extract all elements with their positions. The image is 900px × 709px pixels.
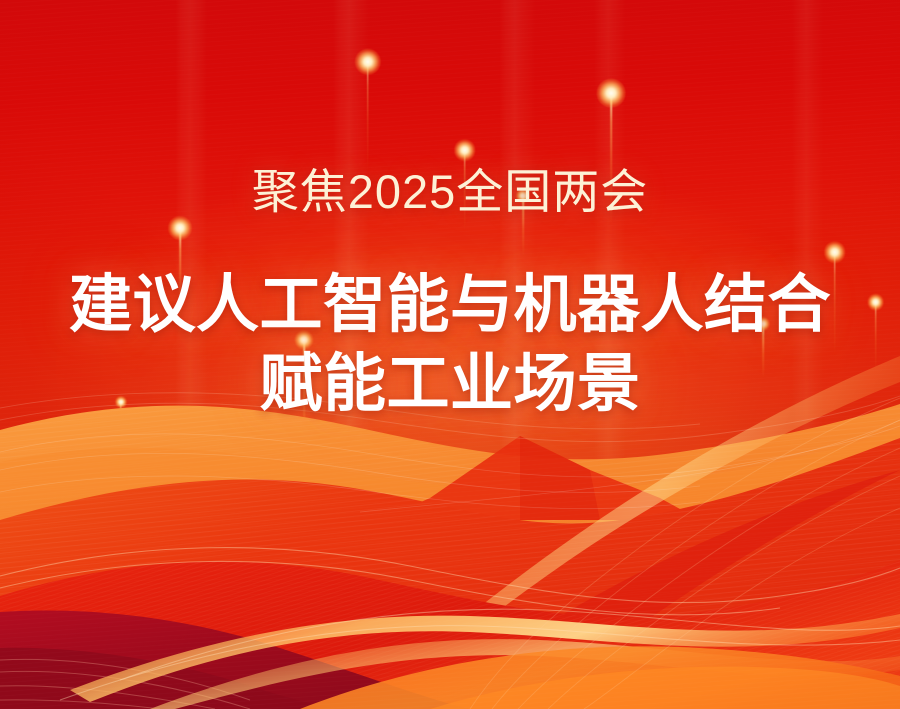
crimson-swoosh-left-inner — [0, 648, 350, 709]
poster-banner: 聚焦2025全国两会 建议人工智能与机器人结合 赋能工业场景 — [0, 0, 900, 709]
poster-subtitle: 聚焦2025全国两会 — [0, 168, 900, 215]
gold-ribbon-main — [70, 614, 900, 702]
crimson-highlight-lines — [0, 659, 250, 709]
dune-crest-soft — [0, 428, 900, 520]
particle-head — [454, 139, 476, 161]
particle-head — [597, 79, 626, 108]
particle-tail — [367, 62, 369, 172]
mountain-peak-shade — [520, 436, 600, 520]
particle-head — [824, 241, 846, 263]
gold-ribbon-second — [150, 639, 900, 709]
right-diagonal-striations — [470, 398, 900, 709]
crimson-swoosh-left — [0, 611, 470, 709]
dune-far-light — [0, 404, 900, 709]
particle-head — [354, 49, 380, 75]
mountain-peak-center — [380, 436, 700, 520]
wave-lower-scarlet — [0, 560, 900, 709]
wave-filaments — [0, 548, 900, 700]
light-particle-1 — [362, 62, 373, 172]
orange-ribbon-bottom — [300, 646, 900, 709]
poster-title-line-2: 赋能工业场景 — [0, 353, 900, 416]
particle-head — [168, 216, 192, 240]
wave-filaments-faint — [0, 420, 900, 512]
poster-title-line-1: 建议人工智能与机器人结合 — [0, 274, 900, 337]
ridge-mid-red — [0, 438, 900, 709]
orange-ribbon-bottom-2 — [430, 667, 900, 709]
